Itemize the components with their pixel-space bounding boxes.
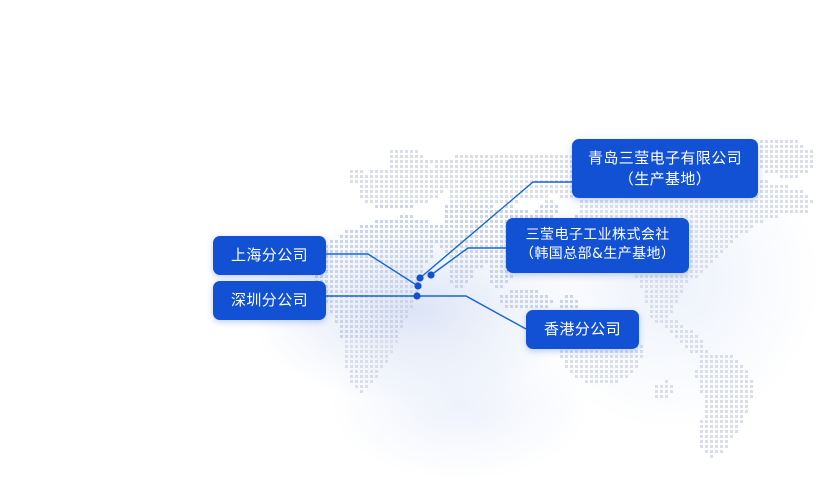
label-korea-line1: 三莹电子工业株式会社 bbox=[520, 226, 675, 245]
label-shanghai-line1: 上海分公司 bbox=[231, 245, 308, 266]
label-shenzhen-line1: 深圳分公司 bbox=[231, 290, 308, 311]
label-korea-hq[interactable]: 三莹电子工业株式会社 （韩国总部&生产基地） bbox=[506, 218, 689, 273]
label-hongkong[interactable]: 香港分公司 bbox=[526, 310, 639, 349]
label-shenzhen[interactable]: 深圳分公司 bbox=[213, 281, 326, 320]
label-hongkong-line1: 香港分公司 bbox=[544, 319, 621, 340]
label-shanghai[interactable]: 上海分公司 bbox=[213, 236, 326, 275]
map-canvas: 青岛三莹电子有限公司 （生产基地） 三莹电子工业株式会社 （韩国总部&生产基地）… bbox=[0, 0, 824, 480]
label-qingdao-line2: （生产基地） bbox=[588, 169, 742, 190]
label-qingdao[interactable]: 青岛三莹电子有限公司 （生产基地） bbox=[572, 139, 758, 198]
world-map bbox=[0, 0, 824, 480]
label-korea-line2: （韩国总部&生产基地） bbox=[520, 245, 675, 264]
label-qingdao-line1: 青岛三莹电子有限公司 bbox=[588, 148, 742, 169]
